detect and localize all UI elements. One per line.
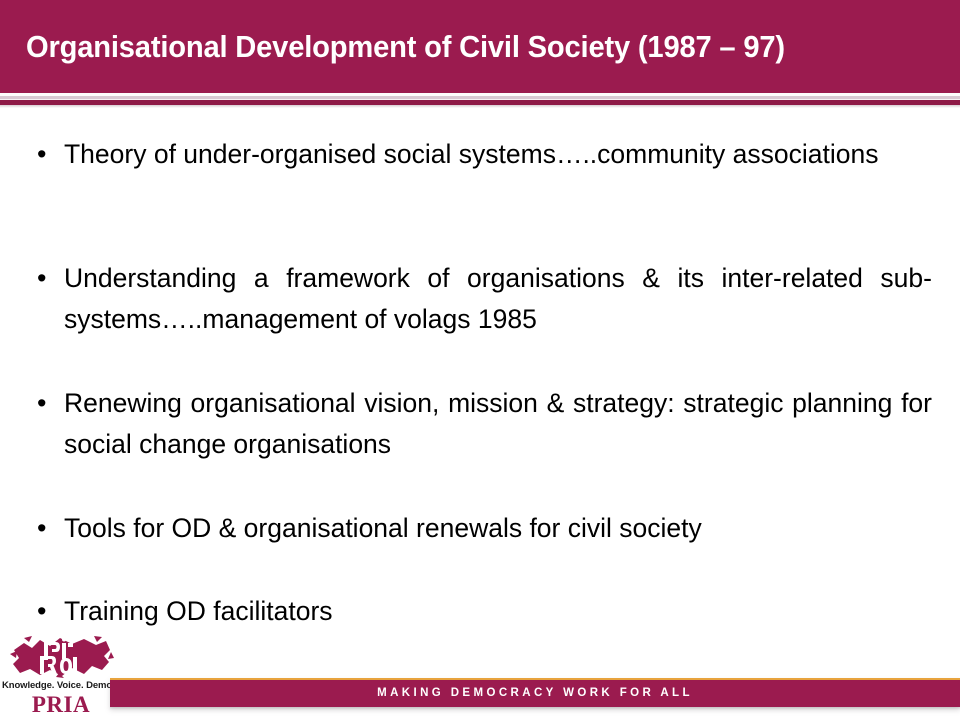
- bullet-icon: •: [30, 258, 64, 299]
- bullet-icon: •: [30, 591, 64, 632]
- bullet-icon: •: [30, 508, 64, 549]
- list-item-text: Theory of under-organised social systems…: [64, 134, 932, 175]
- slide: Organisational Development of Civil Soci…: [0, 0, 960, 720]
- content-body: • Theory of under-organised social syste…: [0, 116, 960, 636]
- list-item: • Theory of under-organised social syste…: [30, 134, 932, 175]
- footer-banner: MAKING DEMOCRACY WORK FOR ALL: [110, 678, 960, 707]
- list-item: • Tools for OD & organisational renewals…: [30, 508, 932, 549]
- footer-tagline: MAKING DEMOCRACY WORK FOR ALL: [110, 680, 960, 707]
- list-item-text: Understanding a framework of organisatio…: [64, 258, 932, 340]
- logo-tagline: Knowledge. Voice. Democracy.: [2, 680, 120, 691]
- logo-wordmark: PRIA: [2, 692, 120, 718]
- list-item-text: Renewing organisational vision, mission …: [64, 383, 932, 465]
- list-item-text: Training OD facilitators: [64, 591, 932, 632]
- footer-shadow: [110, 707, 960, 710]
- divider-shadow: [0, 105, 960, 108]
- bullet-icon: •: [30, 134, 64, 175]
- pria-brushmark-icon: [10, 634, 114, 680]
- list-item: • Training OD facilitators: [30, 591, 932, 632]
- bullet-icon: •: [30, 383, 64, 424]
- list-item: • Understanding a framework of organisat…: [30, 258, 932, 340]
- list-item-text: Tools for OD & organisational renewals f…: [64, 508, 932, 549]
- pria-logo: Knowledge. Voice. Democracy. PRIA: [2, 634, 120, 716]
- list-item: • Renewing organisational vision, missio…: [30, 383, 932, 465]
- page-title: Organisational Development of Civil Soci…: [26, 0, 785, 93]
